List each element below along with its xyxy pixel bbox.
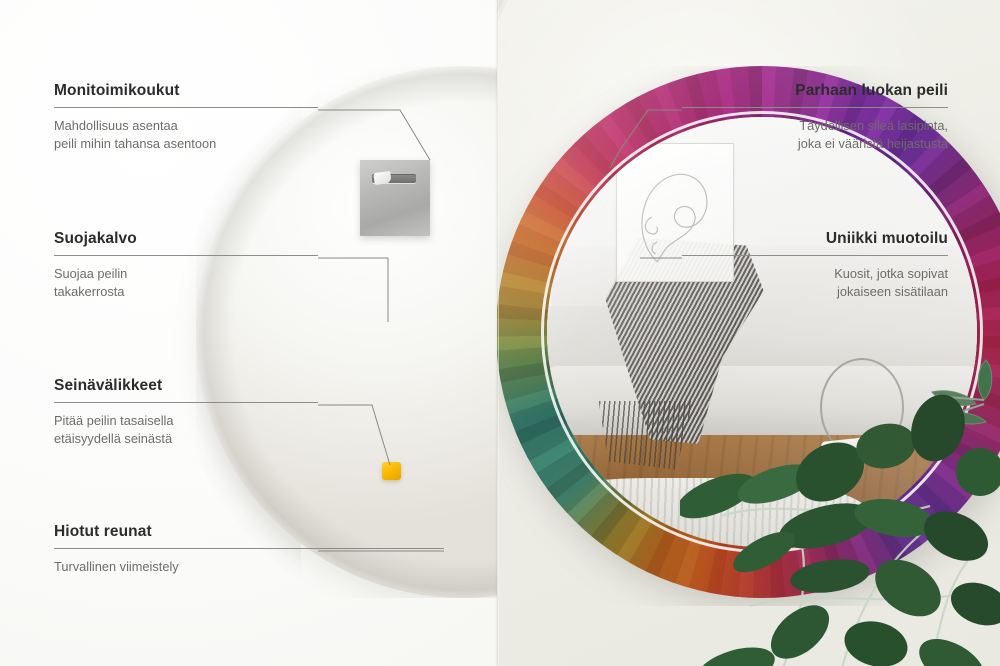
callout-title: Seinävälikkeet: [54, 377, 318, 395]
callout-description: Pitää peilin tasaisella etäisyydellä sei…: [54, 412, 318, 447]
callout-rule: [54, 548, 444, 549]
callout-monitoimikoukut: Monitoimikoukut Mahdollisuus asentaa pei…: [54, 82, 318, 152]
callout-title: Suojakalvo: [54, 230, 318, 248]
callout-title: Monitoimikoukut: [54, 82, 318, 100]
callout-title: Hiotut reunat: [54, 523, 444, 541]
callout-parhaan-luokan-peili: Parhaan luokan peili Täydellisen sileä l…: [682, 82, 948, 152]
callout-rule: [54, 255, 318, 256]
callout-suojakalvo: Suojakalvo Suojaa peilin takakerrosta: [54, 230, 318, 300]
wall-spacer: [382, 462, 401, 480]
callout-rule: [54, 402, 318, 403]
callout-description: Turvallinen viimeistely: [54, 558, 444, 576]
eucalyptus-foliage-bottom: [680, 376, 1000, 666]
callout-title: Parhaan luokan peili: [682, 82, 948, 100]
callout-seinavalikkeet: Seinävälikkeet Pitää peilin tasaisella e…: [54, 377, 318, 447]
wall-hook-plate: [360, 160, 430, 236]
callout-uniikki-muotoilu: Uniikki muotoilu Kuosit, jotka sopivat j…: [682, 230, 948, 300]
callout-description: Suojaa peilin takakerrosta: [54, 265, 318, 300]
callout-title: Uniikki muotoilu: [682, 230, 948, 248]
panel-split-seam: [495, 0, 499, 666]
callout-hiotut-reunat: Hiotut reunat Turvallinen viimeistely: [54, 523, 444, 576]
callout-description: Täydellisen sileä lasipinta, joka ei vää…: [682, 117, 948, 152]
callout-rule: [54, 107, 318, 108]
callout-rule: [682, 255, 948, 256]
callout-rule: [682, 107, 948, 108]
callout-description: Kuosit, jotka sopivat jokaiseen sisätila…: [682, 265, 948, 300]
callout-description: Mahdollisuus asentaa peili mihin tahansa…: [54, 117, 318, 152]
infographic-canvas: Monitoimikoukut Mahdollisuus asentaa pei…: [0, 0, 1000, 666]
